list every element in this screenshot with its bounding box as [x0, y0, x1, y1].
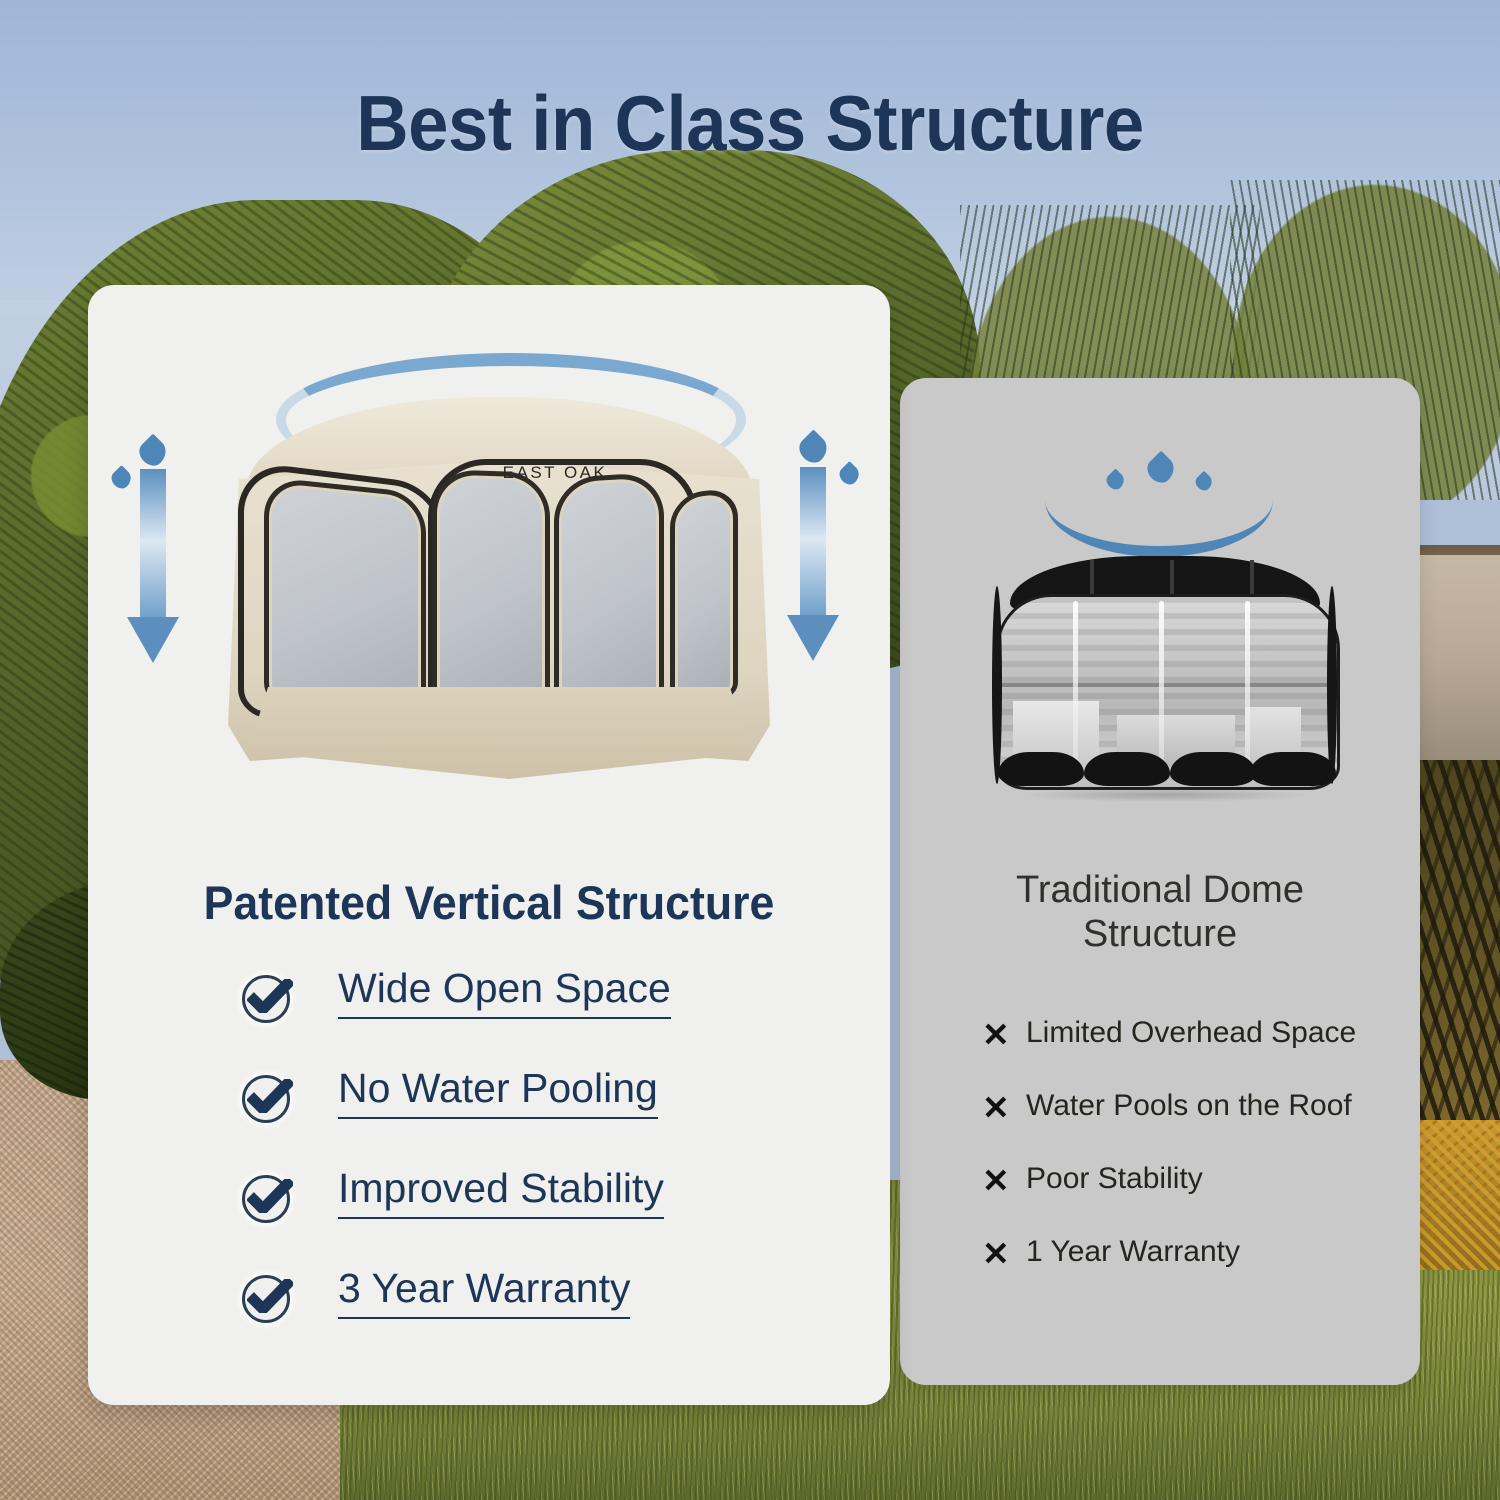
list-item: ✕ Poor Stability — [982, 1164, 1402, 1237]
water-drop-icon-left-large — [135, 434, 172, 471]
patented-structure-illustration: EAST OAK — [88, 343, 890, 843]
tent-mesh-panel — [264, 476, 426, 721]
drawback-label: Poor Stability — [1026, 1162, 1203, 1196]
water-drop-icon-center — [1143, 451, 1180, 488]
water-drop-icon-right-large — [794, 429, 832, 467]
tent-mesh-panel — [554, 472, 664, 714]
tent-mesh-panel — [432, 469, 550, 711]
tent-mesh-panel — [670, 486, 738, 706]
x-mark-icon: ✕ — [982, 1091, 1010, 1124]
brand-label: EAST OAK — [470, 463, 640, 483]
feature-label: Improved Stability — [338, 1165, 664, 1219]
list-item: ✕ 1 Year Warranty — [982, 1237, 1402, 1310]
check-circle-icon — [238, 1069, 294, 1125]
feature-label: Wide Open Space — [338, 965, 671, 1019]
water-pooling-arc-icon — [1045, 500, 1273, 557]
check-circle-icon — [238, 1269, 294, 1325]
x-mark-icon: ✕ — [982, 1237, 1010, 1270]
list-item: ✕ Limited Overhead Space — [982, 1018, 1402, 1091]
check-circle-icon — [238, 969, 294, 1025]
traditional-heading: Traditional Dome Structure — [922, 868, 1398, 956]
list-item: Improved Stability — [238, 1165, 858, 1265]
drawback-label: Water Pools on the Roof — [1026, 1089, 1352, 1123]
list-item: ✕ Water Pools on the Roof — [982, 1091, 1402, 1164]
feature-label: 3 Year Warranty — [338, 1265, 630, 1319]
feature-label: No Water Pooling — [338, 1065, 658, 1119]
dome-tent-graphic — [992, 556, 1337, 814]
x-mark-icon: ✕ — [982, 1018, 1010, 1051]
water-drop-icon-left-small — [108, 465, 135, 492]
patented-heading: Patented Vertical Structure — [108, 875, 870, 930]
patented-feature-list: Wide Open Space No Water Pooling Improve… — [238, 965, 858, 1365]
drawback-label: 1 Year Warranty — [1026, 1235, 1240, 1269]
check-circle-icon — [238, 1169, 294, 1225]
infographic-stage: Best in Class Structure — [0, 0, 1500, 1500]
comparison-card-traditional: Traditional Dome Structure ✕ Limited Ove… — [900, 378, 1420, 1385]
list-item: 3 Year Warranty — [238, 1265, 858, 1365]
tent-floor — [248, 687, 750, 779]
traditional-dome-illustration — [900, 438, 1420, 838]
water-drop-icon-right-small — [836, 461, 863, 488]
comparison-card-patented: EAST OAK Patented Vertical Structure Wid… — [88, 285, 890, 1405]
east-oak-tent-graphic: EAST OAK — [218, 397, 778, 817]
page-title: Best in Class Structure — [53, 78, 1448, 169]
x-mark-icon: ✕ — [982, 1164, 1010, 1197]
list-item: Wide Open Space — [238, 965, 858, 1065]
water-drop-icon-right — [1193, 471, 1216, 494]
traditional-drawback-list: ✕ Limited Overhead Space ✕ Water Pools o… — [982, 1018, 1402, 1310]
drawback-label: Limited Overhead Space — [1026, 1016, 1356, 1050]
list-item: No Water Pooling — [238, 1065, 858, 1165]
traditional-heading-line1: Traditional Dome — [1016, 869, 1304, 911]
water-drop-icon-left — [1103, 468, 1127, 492]
traditional-heading-line2: Structure — [1083, 913, 1237, 955]
